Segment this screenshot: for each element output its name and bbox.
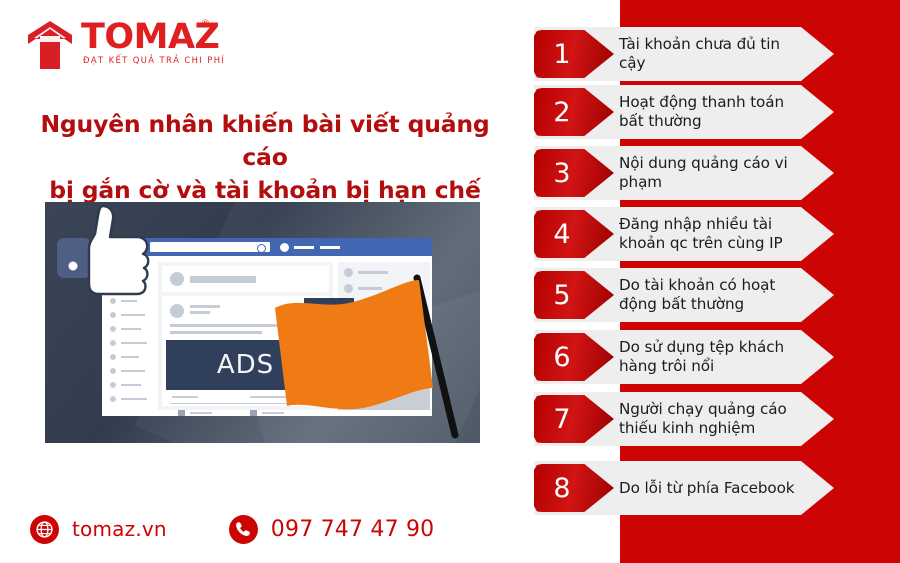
bullet-icon <box>110 298 116 304</box>
list-item[interactable]: 5 Do tài khoản có hoạt động bất thường <box>534 268 834 322</box>
brand-logo: TOMAZ ® ĐẠT KẾT QUẢ TRẢ CHI PHÍ <box>27 18 227 76</box>
list-item[interactable]: 1 Tài khoản chưa đủ tin cậy <box>534 27 834 81</box>
item-number: 8 <box>534 464 590 512</box>
search-icon <box>257 244 266 253</box>
like-icon <box>178 410 185 416</box>
list-item[interactable]: 8 Do lỗi từ phía Facebook <box>534 461 834 515</box>
bullet-icon <box>110 396 116 402</box>
nav-label-bar <box>121 300 137 302</box>
item-number: 4 <box>534 210 590 258</box>
logo-text-block: TOMAZ ® ĐẠT KẾT QUẢ TRẢ CHI PHÍ <box>81 18 225 65</box>
bullet-icon <box>110 340 116 346</box>
page-title: Nguyên nhân khiến bài viết quảng cáo bị … <box>20 108 510 207</box>
bullet-icon <box>110 326 116 332</box>
nav-label-bar <box>121 314 145 316</box>
item-label: Người chạy quảng cáo thiếu kinh nghiệm <box>619 392 809 446</box>
post-meta-bar <box>172 396 198 398</box>
footer-contacts: tomaz.vn 097 747 47 90 <box>30 512 434 546</box>
item-number: 1 <box>534 30 590 78</box>
item-number: 7 <box>534 395 590 443</box>
registered-trademark-icon: ® <box>201 19 210 29</box>
item-label: Hoạt động thanh toán bất thường <box>619 85 809 139</box>
phone-icon <box>229 515 258 544</box>
item-label: Do tài khoản có hoạt động bất thường <box>619 268 809 322</box>
contact-website[interactable]: tomaz.vn <box>30 515 167 544</box>
item-label: Đăng nhập nhiều tài khoản qc trên cùng I… <box>619 207 809 261</box>
item-number: 3 <box>534 149 590 197</box>
phone-number-label: 097 747 47 90 <box>271 517 435 542</box>
post-text-bar <box>170 331 262 334</box>
logo-tagline: ĐẠT KẾT QUẢ TRẢ CHI PHÍ <box>83 55 225 65</box>
post-author-bar <box>190 305 220 308</box>
comment-icon <box>250 410 257 416</box>
menu-line-icon <box>320 246 340 249</box>
tomaz-logo-mark <box>27 20 73 70</box>
avatar <box>170 272 184 286</box>
facebook-ads-illustration: ADS ADS <box>45 202 480 443</box>
menu-line-icon <box>294 246 314 249</box>
search-bar-mockup <box>150 242 270 252</box>
red-flag-icon <box>267 260 477 443</box>
globe-icon <box>30 515 59 544</box>
item-label: Tài khoản chưa đủ tin cậy <box>619 27 809 81</box>
item-number: 5 <box>534 271 590 319</box>
list-item[interactable]: 4 Đăng nhập nhiều tài khoản qc trên cùng… <box>534 207 834 261</box>
item-number: 2 <box>534 88 590 136</box>
like-label-bar <box>190 412 212 414</box>
website-label: tomaz.vn <box>72 517 167 541</box>
contact-phone[interactable]: 097 747 47 90 <box>229 515 435 544</box>
nav-label-bar <box>121 356 139 358</box>
profile-avatar-dot <box>280 243 289 252</box>
nav-label-bar <box>121 370 145 372</box>
post-time-bar <box>190 311 210 314</box>
bullet-icon <box>110 368 116 374</box>
list-item[interactable]: 6 Do sử dụng tệp khách hàng trôi nổi <box>534 330 834 384</box>
list-item[interactable]: 7 Người chạy quảng cáo thiếu kinh nghiệm <box>534 392 834 446</box>
nav-label-bar <box>121 384 141 386</box>
thumbs-up-icon <box>57 204 153 296</box>
nav-label-bar <box>121 342 147 344</box>
bullet-icon <box>110 312 116 318</box>
nav-label-bar <box>121 328 141 330</box>
post-author-bar <box>190 276 256 283</box>
bullet-icon <box>110 382 116 388</box>
nav-label-bar <box>121 398 147 400</box>
bullet-icon <box>110 354 116 360</box>
item-label: Do lỗi từ phía Facebook <box>619 461 809 515</box>
item-label: Nội dung quảng cáo vi phạm <box>619 146 809 200</box>
item-label: Do sử dụng tệp khách hàng trôi nổi <box>619 330 809 384</box>
item-number: 6 <box>534 333 590 381</box>
avatar <box>170 304 184 318</box>
list-item[interactable]: 3 Nội dung quảng cáo vi phạm <box>534 146 834 200</box>
headline-line-1: Nguyên nhân khiến bài viết quảng cáo <box>40 110 489 171</box>
list-item[interactable]: 2 Hoạt động thanh toán bất thường <box>534 85 834 139</box>
